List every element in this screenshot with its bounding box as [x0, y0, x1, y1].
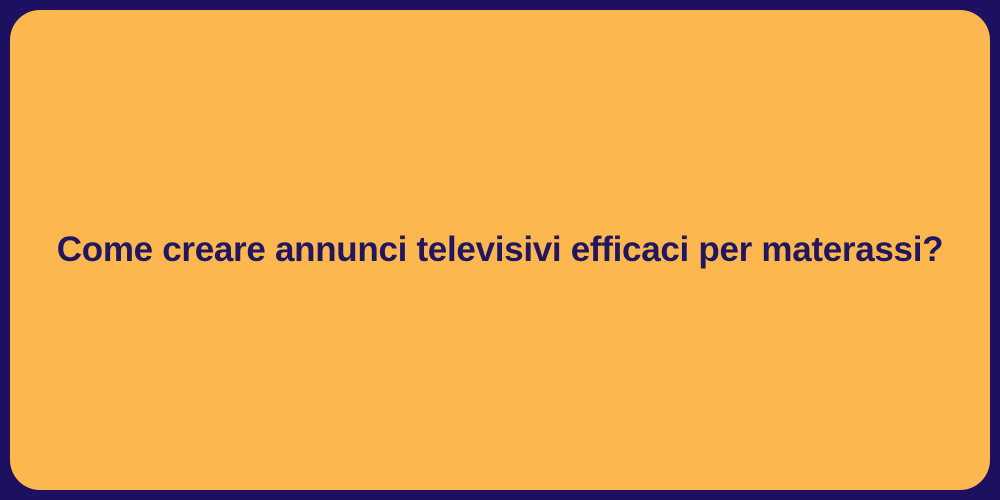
content-card: Come creare annunci televisivi efficaci …	[10, 10, 990, 490]
outer-frame: Come creare annunci televisivi efficaci …	[0, 0, 1000, 500]
page-title: Come creare annunci televisivi efficaci …	[57, 228, 943, 272]
